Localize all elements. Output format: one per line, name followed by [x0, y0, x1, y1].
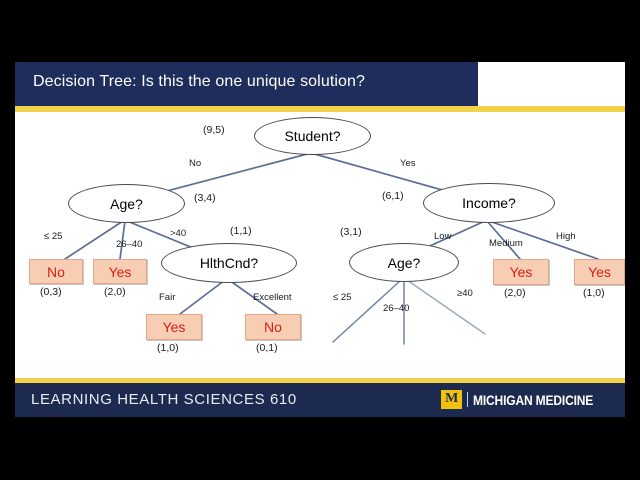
tree-leaf-count-yes-fair: (1,0): [157, 342, 179, 354]
tree-leaf-label: Yes: [510, 264, 533, 280]
edge-label-hlth-excellent: Excellent: [253, 292, 292, 303]
edge-label-student-no: No: [189, 158, 201, 169]
tree-leaf-label: Yes: [588, 264, 611, 280]
page-title: Decision Tree: Is this the one unique so…: [33, 73, 365, 91]
edge-label-age-right-26-40: 26–40: [383, 303, 409, 314]
tree-leaf-yes-left[interactable]: Yes: [93, 259, 147, 284]
slide-video-frame: Decision Tree: Is this the one unique so…: [0, 0, 640, 480]
tree-leaf-no-left[interactable]: No: [29, 259, 83, 284]
tree-leaf-yes-medium[interactable]: Yes: [493, 259, 549, 285]
tree-leaf-label: No: [264, 319, 282, 335]
footer-course-title: LEARNING HEALTH SCIENCES 610: [31, 391, 297, 408]
logo-divider: [467, 392, 468, 407]
edge-label-income-medium: Medium: [489, 238, 523, 249]
tree-leaf-label: Yes: [109, 264, 132, 280]
tree-node-age-right[interactable]: Age?: [349, 243, 459, 282]
tree-leaf-no-excellent[interactable]: No: [245, 314, 301, 340]
michigan-medicine-logo: M MICHIGAN MEDICINE: [441, 390, 613, 409]
edge-label-income-high: High: [556, 231, 576, 242]
tree-leaf-count-no-excellent: (0,1): [256, 342, 278, 354]
tree-node-income[interactable]: Income?: [423, 183, 555, 223]
edge-label-age-left-26-40: 26–40: [116, 239, 142, 250]
tree-leaf-yes-fair[interactable]: Yes: [146, 314, 202, 340]
slide-title-band: Decision Tree: Is this the one unique so…: [15, 62, 478, 106]
edge-label-income-low: Low: [434, 231, 451, 242]
footer-brand-text: MICHIGAN MEDICINE: [473, 392, 593, 408]
tree-node-label: Age?: [110, 196, 143, 212]
edge-label-age-right-le25: ≤ 25: [333, 292, 351, 303]
tree-node-count-student: (9,5): [203, 124, 225, 136]
tree-node-label: Student?: [284, 128, 340, 144]
edge-label-age-left-le25: ≤ 25: [44, 231, 62, 242]
tree-leaf-count-yes-left: (2,0): [104, 286, 126, 298]
edge-label-hlth-fair: Fair: [159, 292, 175, 303]
tree-leaf-count-yes-high: (1,0): [583, 287, 605, 299]
presentation-slide: Decision Tree: Is this the one unique so…: [15, 62, 625, 417]
title-white-block: [478, 62, 625, 106]
decision-tree-diagram: Student? (9,5) No Yes Age? (3,4) ≤ 25 26…: [15, 112, 625, 378]
tree-node-count-hlthcnd: (1,1): [230, 225, 252, 237]
tree-node-label: Income?: [462, 195, 516, 211]
tree-node-hlthcnd[interactable]: HlthCnd?: [161, 243, 297, 283]
tree-leaf-count-no-left: (0,3): [40, 286, 62, 298]
slide-footer: LEARNING HEALTH SCIENCES 610 M MICHIGAN …: [15, 383, 625, 417]
tree-node-count-income: (6,1): [382, 190, 404, 202]
tree-node-student[interactable]: Student?: [254, 117, 371, 155]
tree-node-count-age-right: (3,1): [340, 226, 362, 238]
edge-label-student-yes: Yes: [400, 158, 416, 169]
tree-node-age-left[interactable]: Age?: [68, 184, 185, 223]
tree-leaf-label: No: [47, 264, 65, 280]
edge-label-age-left-gt40: >40: [170, 228, 186, 239]
edge-label-age-right-gt40: ≥40: [457, 288, 473, 299]
block-m-icon: M: [441, 390, 462, 409]
tree-leaf-yes-high[interactable]: Yes: [574, 259, 625, 285]
tree-leaf-label: Yes: [163, 319, 186, 335]
tree-node-label: Age?: [388, 255, 421, 271]
tree-node-count-age-left: (3,4): [194, 192, 216, 204]
tree-leaf-count-yes-medium: (2,0): [504, 287, 526, 299]
tree-node-label: HlthCnd?: [200, 255, 258, 271]
